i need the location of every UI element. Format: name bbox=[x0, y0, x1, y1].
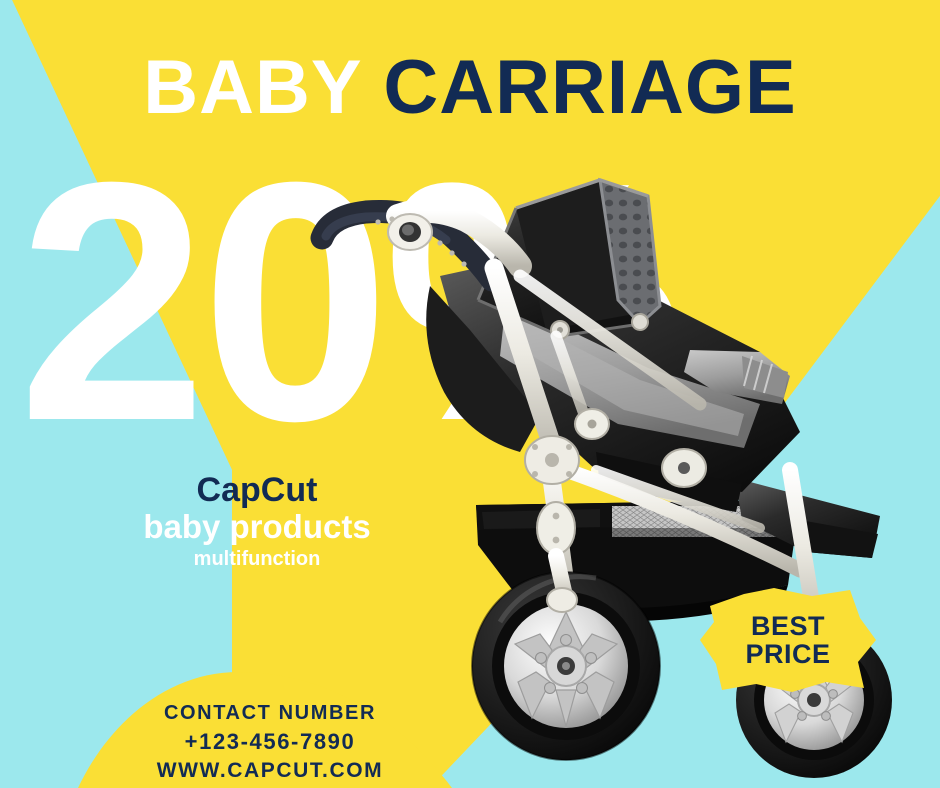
contact-label: CONTACT NUMBER bbox=[60, 700, 480, 727]
contact-block: CONTACT NUMBER +123-456-7890 WWW.CAPCUT.… bbox=[60, 700, 480, 785]
brand-category: baby products bbox=[92, 509, 422, 546]
best-price-badge[interactable]: BEST PRICE bbox=[700, 588, 876, 692]
badge-label: BEST PRICE bbox=[700, 588, 876, 692]
brand-tagline: multifunction bbox=[92, 546, 422, 572]
contact-website[interactable]: WWW.CAPCUT.COM bbox=[60, 757, 480, 785]
brand-block: CapCut baby products multifunction bbox=[92, 472, 422, 572]
promo-poster: BABY CARRIAGE 20% bbox=[0, 0, 940, 788]
badge-line-1: BEST bbox=[751, 612, 825, 640]
contact-phone[interactable]: +123-456-7890 bbox=[60, 727, 480, 757]
badge-line-2: PRICE bbox=[745, 640, 830, 668]
brand-name: CapCut bbox=[92, 472, 422, 509]
